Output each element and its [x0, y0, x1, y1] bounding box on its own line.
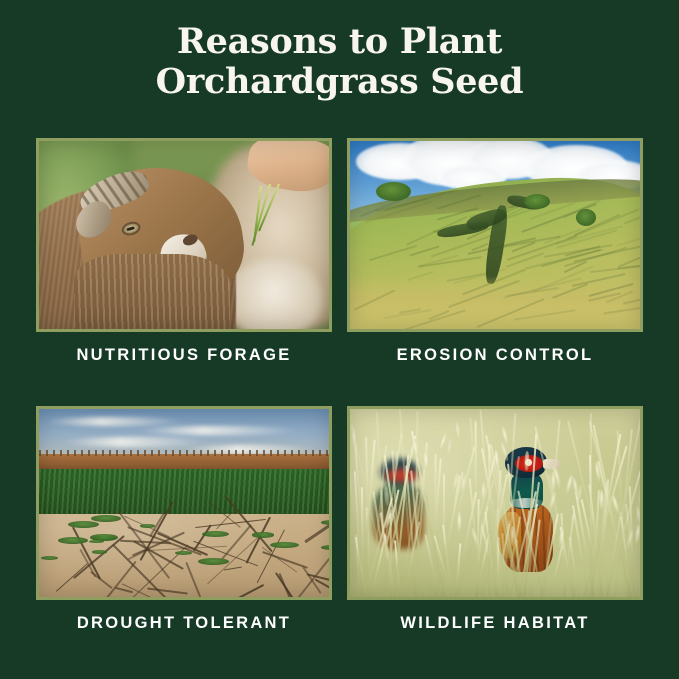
- benefit-caption: DROUGHT TOLERANT: [36, 614, 332, 633]
- page-title: Reasons to Plant Orchardgrass Seed: [0, 22, 679, 102]
- benefit-caption: EROSION CONTROL: [347, 346, 643, 365]
- shrub: [376, 182, 411, 201]
- photo-frame: [347, 406, 643, 600]
- goat-eye: [123, 222, 140, 235]
- benefit-card-erosion-control: EROSION CONTROL: [347, 138, 643, 365]
- benefits-grid: NUTRITIOUS FORAGE: [36, 138, 643, 600]
- cloud: [62, 437, 207, 446]
- tall-grass: [350, 409, 640, 597]
- pheasant-in-grass-photo: [350, 409, 640, 597]
- benefit-card-nutritious-forage: NUTRITIOUS FORAGE: [36, 138, 332, 365]
- cracked-dry-earth-photo: [39, 409, 329, 597]
- goat-beard: [74, 254, 231, 329]
- photo-frame: [347, 138, 643, 332]
- benefit-caption: WILDLIFE HABITAT: [347, 614, 643, 633]
- photo-frame: [36, 138, 332, 332]
- goat-eating-grass-photo: [39, 141, 329, 329]
- cracked-soil: [39, 514, 329, 597]
- infographic-poster: Reasons to Plant Orchardgrass Seed: [0, 0, 679, 679]
- benefit-card-wildlife-habitat: WILDLIFE HABITAT: [347, 406, 643, 633]
- grassy-hillside-photo: [350, 141, 640, 329]
- benefit-card-drought-tolerant: DROUGHT TOLERANT: [36, 406, 332, 633]
- cloud: [45, 417, 184, 426]
- title-line-1: Reasons to Plant: [0, 22, 679, 62]
- benefit-caption: NUTRITIOUS FORAGE: [36, 346, 332, 365]
- photo-frame: [36, 406, 332, 600]
- title-line-2: Orchardgrass Seed: [0, 62, 679, 102]
- foreground-grass: [350, 276, 640, 329]
